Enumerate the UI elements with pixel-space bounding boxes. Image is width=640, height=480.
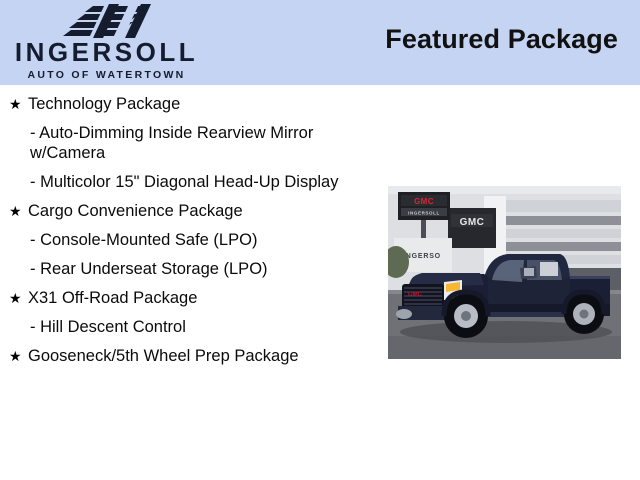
svg-text:GMC: GMC bbox=[408, 292, 423, 298]
package-item: ★ Technology Package bbox=[0, 94, 380, 114]
star-bullet-icon: ★ bbox=[9, 201, 28, 221]
featured-package-list: ★ Technology Package - Auto-Dimming Insi… bbox=[0, 85, 380, 366]
package-sub-label: - Console-Mounted Safe (LPO) bbox=[30, 230, 380, 250]
vehicle-photo-image: GMC GMC INGERSOLL INGERSO bbox=[388, 186, 621, 359]
package-sub-label: - Rear Underseat Storage (LPO) bbox=[30, 259, 380, 279]
package-item: ★ Gooseneck/5th Wheel Prep Package bbox=[0, 346, 380, 366]
page-title: Featured Package bbox=[385, 24, 618, 55]
package-label: Technology Package bbox=[28, 94, 380, 114]
package-item: ★ Cargo Convenience Package bbox=[0, 201, 380, 221]
package-sub-label: - Auto-Dimming Inside Rearview Mirror w/… bbox=[30, 123, 380, 163]
svg-text:GMC: GMC bbox=[460, 217, 485, 228]
package-label: Cargo Convenience Package bbox=[28, 201, 380, 221]
star-bullet-icon: ★ bbox=[9, 346, 28, 366]
package-label: X31 Off-Road Package bbox=[28, 288, 380, 308]
svg-text:INGERSOLL: INGERSOLL bbox=[408, 211, 440, 216]
package-sub-label: - Hill Descent Control bbox=[30, 317, 380, 337]
star-bullet-icon: ★ bbox=[9, 288, 28, 308]
package-sub-item: - Rear Underseat Storage (LPO) bbox=[0, 259, 380, 279]
brand-tagline: AUTO OF WATERTOWN bbox=[0, 70, 210, 81]
vehicle-photo: GMC GMC INGERSOLL INGERSO bbox=[388, 186, 621, 359]
package-sub-item: - Multicolor 15" Diagonal Head-Up Displa… bbox=[0, 172, 380, 192]
ingersoll-winged-monogram-icon bbox=[49, 4, 161, 38]
svg-text:GMC: GMC bbox=[414, 197, 434, 206]
dealer-brand-logo: INGERSOLL AUTO OF WATERTOWN bbox=[0, 2, 210, 84]
package-sub-item: - Console-Mounted Safe (LPO) bbox=[0, 230, 380, 250]
package-sub-item: - Auto-Dimming Inside Rearview Mirror w/… bbox=[0, 123, 380, 163]
star-bullet-icon: ★ bbox=[9, 94, 28, 114]
page-header: INGERSOLL AUTO OF WATERTOWN Featured Pac… bbox=[0, 0, 640, 85]
brand-name: INGERSOLL bbox=[0, 39, 210, 65]
package-item: ★ X31 Off-Road Package bbox=[0, 288, 380, 308]
package-label: Gooseneck/5th Wheel Prep Package bbox=[28, 346, 380, 366]
package-sub-label: - Multicolor 15" Diagonal Head-Up Displa… bbox=[30, 172, 380, 192]
package-sub-item: - Hill Descent Control bbox=[0, 317, 380, 337]
